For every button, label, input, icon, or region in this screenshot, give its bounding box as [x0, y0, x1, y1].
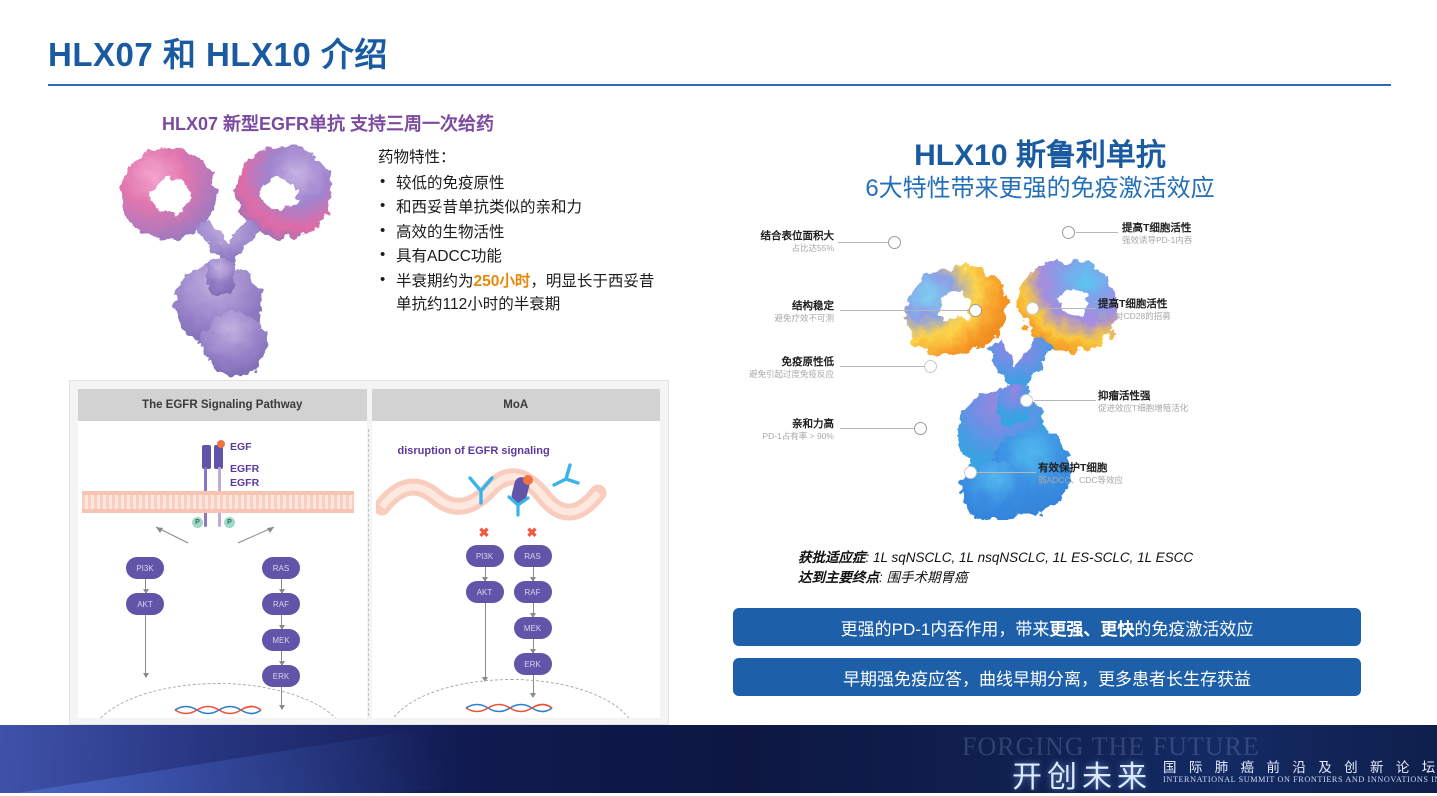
hlx07-section: HLX07 新型EGFR单抗 支持三周一次给药 — [48, 100, 688, 725]
node-pi3k: PI3K — [466, 545, 504, 567]
callout-high-affinity: 亲和力高 PD-1占有率 > 90% — [724, 418, 834, 442]
arrow-pi3k-akt — [145, 579, 146, 593]
arrow-ras-raf — [533, 567, 534, 581]
leader-line-structure — [840, 310, 970, 311]
banner-1-pre: 更强的PD-1内吞作用，带来 — [841, 615, 1050, 640]
highlight-banner-2: 早期强免疫应答，曲线早期分离，更多患者长生存获益 — [733, 658, 1361, 696]
callout-enhance-tcell-endocytosis: 提高T细胞活性 强效诱导PD-1内吞 — [1122, 222, 1192, 246]
hlx10-subtitle: 6大特性带来更强的免疫激活效应 — [690, 168, 1390, 203]
callout-low-immunogenicity: 免疫原性低 避免引起过度免疫反应 — [708, 356, 834, 380]
figure-panel-header: MoA — [372, 389, 661, 421]
node-ras: RAS — [514, 545, 552, 567]
arrow-raf-mek — [533, 603, 534, 617]
node-akt: AKT — [466, 581, 504, 603]
antibody-bound-receptor-icon — [500, 473, 540, 519]
egfr-label-2: EGFR — [230, 477, 259, 489]
panel-divider — [368, 429, 369, 716]
title-divider — [48, 84, 1391, 86]
footer-brand-cn: 开创未来 — [1012, 752, 1152, 796]
leader-dot-immunogenicity — [924, 360, 937, 373]
list-item: 具有ADCC功能 — [378, 245, 668, 269]
egf-ligand-dot — [217, 440, 225, 448]
dna-helix-icon — [464, 701, 554, 715]
callout-protect-tcell: 有效保护T细胞 弱ADCC、CDC等效应 — [1038, 462, 1123, 486]
leader-line-cd28 — [1038, 308, 1096, 309]
hlx10-section: HLX10 斯鲁利单抗 6大特性带来更强的免疫激活效应 — [690, 100, 1390, 725]
leader-line-immunogenicity — [840, 366, 926, 367]
egfr-label-1: EGFR — [230, 463, 259, 475]
banner-2-text: 早期强免疫应答，曲线早期分离，更多患者长生存获益 — [843, 665, 1251, 690]
highlight-banner-1: 更强的PD-1内吞作用，带来更强、更快的免疫激活效应 — [733, 608, 1361, 646]
antibody-icon-left — [464, 473, 498, 507]
node-mek: MEK — [262, 629, 300, 651]
arrow-akt-nucleus — [145, 615, 146, 677]
arrow-mek-erk — [533, 639, 534, 653]
leader-line-antitumor — [1034, 400, 1096, 401]
arrow-akt-nucleus — [485, 603, 486, 681]
leader-dot-structure — [969, 304, 982, 317]
list-item: 较低的免疫原性 — [378, 172, 668, 196]
halflife-highlight: 250小时 — [474, 273, 531, 290]
figure-panel-pathway: The EGFR Signaling Pathway EGF EGFR EGFR… — [78, 389, 367, 718]
leader-line-epitope — [838, 242, 888, 243]
arrow-ras-raf — [281, 579, 282, 593]
node-pi3k: PI3K — [126, 557, 164, 579]
egfr-figure-panel: The EGFR Signaling Pathway EGF EGFR EGFR… — [69, 380, 669, 725]
banner-1-bold: 更强、更快 — [1049, 615, 1134, 640]
list-item-halflife: 半衰期约为250小时，明显长于西妥昔单抗约112小时的半衰期 — [378, 270, 668, 317]
drug-properties-list: 药物特性： 较低的免疫原性 和西妥昔单抗类似的亲和力 高效的生物活性 具有ADC… — [378, 146, 668, 318]
moa-diagram: disruption of EGFR signaling — [372, 421, 661, 718]
node-ras: RAS — [262, 557, 300, 579]
antibody-icon-right — [548, 457, 582, 491]
arrow-mek-erk — [281, 651, 282, 665]
node-mek: MEK — [514, 617, 552, 639]
indications-text: 获批适应症: 1L sqNSCLC, 1L nsqNSCLC, 1L ES-SC… — [798, 548, 1388, 589]
node-erk: ERK — [514, 653, 552, 675]
leader-line-endocytosis — [1076, 232, 1118, 233]
egfr-receptor-head-left — [202, 445, 211, 469]
egfr-receptor-head-right — [214, 445, 223, 469]
footer-forum-name-en: INTERNATIONAL SUMMIT ON FRONTIERS AND IN… — [1163, 775, 1437, 784]
figure-panel-header: The EGFR Signaling Pathway — [78, 389, 367, 421]
hlx07-antibody-molecule-image — [106, 132, 354, 382]
figure-panel-moa: MoA disruption of EGFR signaling — [372, 389, 661, 718]
node-raf: RAF — [514, 581, 552, 603]
halflife-pre: 半衰期约为 — [396, 273, 474, 290]
egf-label: EGF — [230, 441, 252, 453]
node-akt: AKT — [126, 593, 164, 615]
leader-dot-affinity — [914, 422, 927, 435]
block-marker-left: ✖ — [479, 525, 490, 541]
leader-dot-cd28 — [1026, 302, 1039, 315]
leader-dot-antitumor — [1020, 394, 1033, 407]
list-item: 高效的生物活性 — [378, 221, 668, 245]
banner-1-post: 的免疫激活效应 — [1134, 615, 1253, 640]
footer-forum-name-cn: 国 际 肺 癌 前 沿 及 创 新 论 坛 — [1163, 756, 1437, 776]
indications-line-approved: 获批适应症: 1L sqNSCLC, 1L nsqNSCLC, 1L ES-SC… — [798, 548, 1388, 568]
node-raf: RAF — [262, 593, 300, 615]
page-title: HLX07 和 HLX10 介绍 — [48, 28, 388, 76]
drug-properties-title: 药物特性： — [378, 146, 668, 170]
leader-dot-endocytosis — [1062, 226, 1075, 239]
leader-dot-protect — [964, 466, 977, 479]
arrow-pi3k-akt — [485, 567, 486, 581]
moa-title: disruption of EGFR signaling — [398, 445, 550, 457]
node-erk: ERK — [262, 665, 300, 687]
leader-line-affinity — [840, 428, 916, 429]
cell-membrane — [82, 491, 354, 513]
callout-enhance-tcell-cd28: 提高T细胞活性 减少对CD28的招募 — [1098, 298, 1171, 322]
leader-line-protect — [976, 472, 1036, 473]
dna-helix-icon — [173, 703, 263, 717]
indications-line-endpoint: 达到主要终点: 围手术期胃癌 — [798, 568, 1388, 588]
callout-antitumor-activity: 抑瘤活性强 促进效应T细胞增殖活化 — [1098, 390, 1188, 414]
pathway-diagram: EGF EGFR EGFR P P PI3K AKT — [78, 421, 367, 718]
arrow-raf-mek — [281, 615, 282, 629]
leader-dot-epitope — [888, 236, 901, 249]
callout-structure-stability: 结构稳定 避免疗效不可测 — [736, 300, 834, 324]
list-item: 和西妥昔单抗类似的亲和力 — [378, 196, 668, 220]
block-marker-right: ✖ — [527, 525, 538, 541]
callout-epitope-area: 结合表位面积大 占比达55% — [706, 230, 834, 254]
